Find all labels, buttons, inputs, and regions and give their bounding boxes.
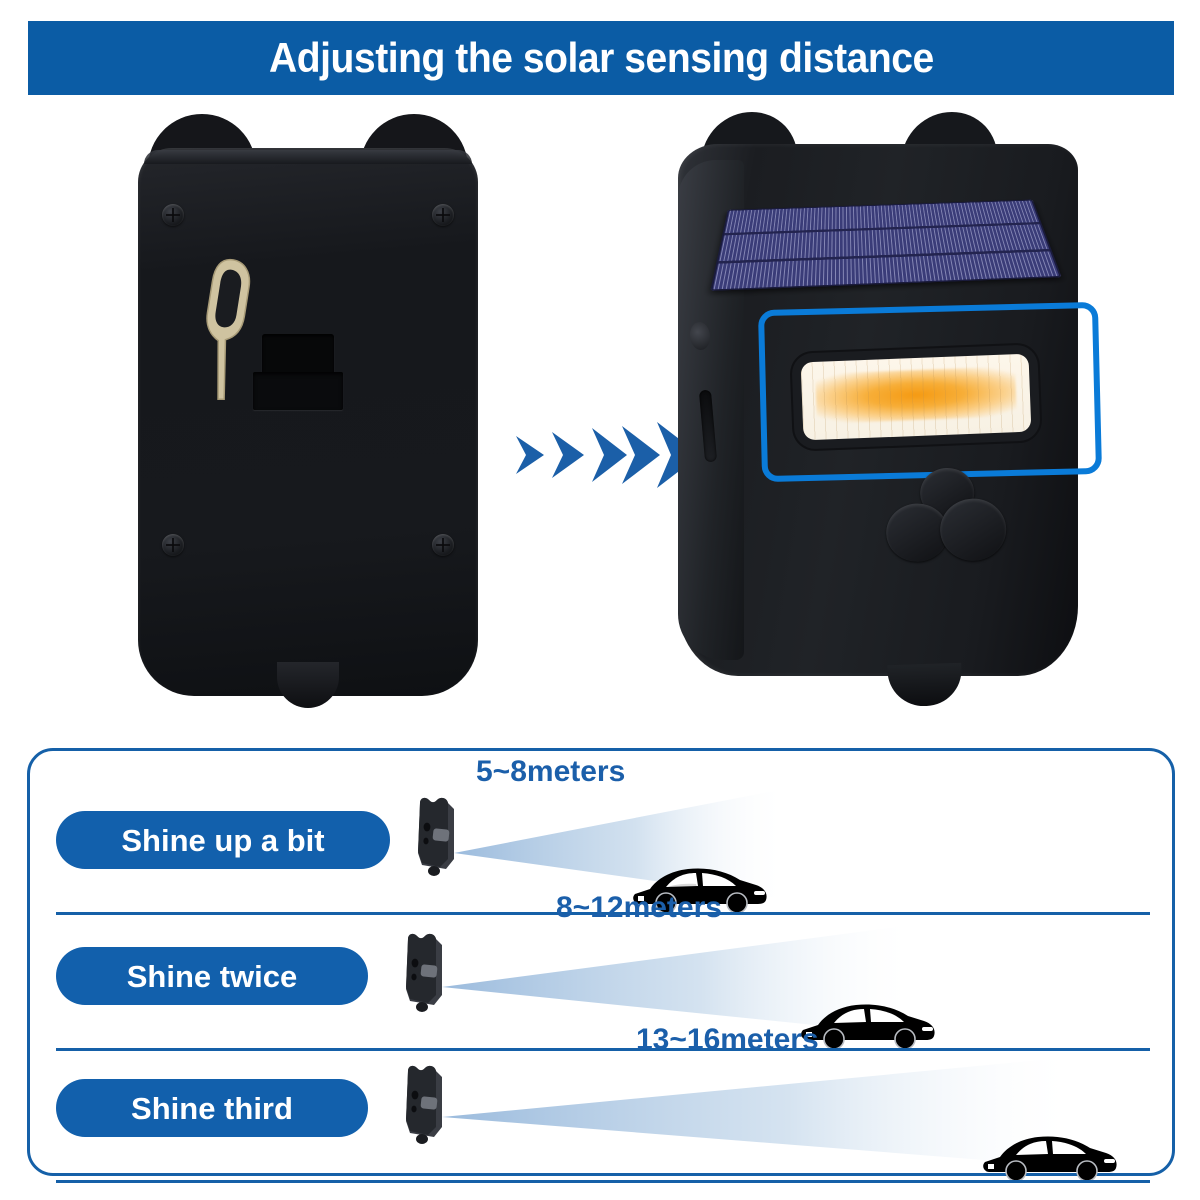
distance-label: 13~16meters <box>636 1025 819 1055</box>
distance-label: 5~8meters <box>476 757 625 787</box>
row-baseline <box>56 1048 1150 1051</box>
speaker-grille-icon <box>883 465 1013 589</box>
screw-top-left-icon <box>162 204 184 226</box>
distance-row: Shine third <box>30 1055 1178 1183</box>
port-recess-upper <box>262 334 334 376</box>
mounting-tab-front <box>887 663 962 708</box>
mounting-tab-rear <box>277 662 339 708</box>
screw-bottom-left-icon <box>162 534 184 556</box>
mode-pill-shine-third[interactable]: Shine third <box>56 1079 368 1137</box>
instruction-graphic: Adjusting the solar sensing distance <box>0 0 1200 1200</box>
screw-bottom-right-icon <box>432 534 454 556</box>
highlight-box <box>758 302 1102 482</box>
car-silhouette-icon <box>980 1131 1120 1181</box>
solar-panel <box>710 200 1061 291</box>
row-baseline <box>56 1180 1150 1183</box>
car-silhouette-icon <box>798 999 938 1049</box>
back-plate <box>138 148 478 696</box>
port-recess-lower <box>253 372 343 410</box>
screw-top-right-icon <box>432 204 454 226</box>
back-top-edge <box>144 150 472 164</box>
mode-label: Shine twice <box>127 961 298 992</box>
speaker-lobe-right <box>939 497 1008 562</box>
distance-row: Shine twice <box>30 923 1178 1051</box>
header-banner: Adjusting the solar sensing distance <box>28 21 1174 95</box>
mode-pill-shine-twice[interactable]: Shine twice <box>56 947 368 1005</box>
mode-pill-shine-up-a-bit[interactable]: Shine up a bit <box>56 811 390 869</box>
device-rear-view <box>138 114 478 704</box>
distance-settings-panel: Shine up a bit <box>27 748 1175 1176</box>
page-title: Adjusting the solar sensing distance <box>269 37 934 79</box>
mode-label: Shine up a bit <box>121 825 324 856</box>
sensing-beam-cone <box>442 1055 1072 1173</box>
distance-label: 8~12meters <box>556 893 722 923</box>
device-front-view <box>650 108 1110 708</box>
mode-label: Shine third <box>131 1093 293 1124</box>
product-photo-area <box>0 100 1200 725</box>
solar-frame <box>710 200 1061 291</box>
